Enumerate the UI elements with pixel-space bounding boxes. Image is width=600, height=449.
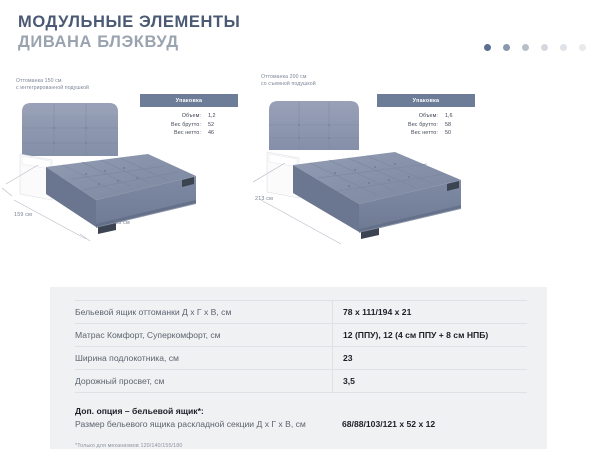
pagination-dot-4[interactable] (541, 44, 548, 51)
table-row-value: 12 (ППУ), 12 (4 см ППУ + 8 см НПБ) (332, 324, 527, 346)
specifications-table: Бельевой ящик оттоманки Д х Г х В, см78 … (75, 300, 527, 449)
packaging-row-value: 1,2 (201, 112, 230, 121)
packaging-row-value: 52 (201, 121, 230, 130)
packaging-row-value: 50 (438, 129, 467, 138)
page-title: МОДУЛЬНЫЕ ЭЛЕМЕНТЫ ДИВАНА БЛЭКВУД (18, 12, 240, 52)
packaging-row-label: Вес брутто: (408, 121, 438, 130)
optional-drawer-value: 68/88/103/121 x 52 x 12 (332, 405, 527, 431)
packaging-row: Объем:1,2 (144, 112, 230, 121)
pagination-dot-5[interactable] (560, 44, 567, 51)
table-row-value: 23 (332, 347, 527, 369)
product-ottoman-150: Оттоманка 150 см с интегрированной подуш… (0, 72, 250, 247)
packaging-row-label: Объем: (182, 112, 201, 121)
packaging-card-150-rows: Объем:1,2Вес брутто:52Вес нетто:46 (140, 107, 238, 144)
table-row-label: Дорожный просвет, см (75, 370, 332, 392)
packaging-row: Объем:1,6 (381, 112, 467, 121)
table-footnote: *Только для механизмов 120/140/155/180 (75, 443, 527, 449)
packaging-row: Вес нетто:46 (144, 129, 230, 138)
optional-drawer-label: Размер бельевого ящика раскладной секции… (75, 418, 326, 431)
dimension-width-150: 85 см (115, 220, 130, 226)
packaging-row: Вес брутто:52 (144, 121, 230, 130)
packaging-row: Вес брутто:58 (381, 121, 467, 130)
table-row-value: 3,5 (332, 370, 527, 392)
packaging-row-label: Вес брутто: (171, 121, 201, 130)
packaging-card-150: Упаковка Объем:1,2Вес брутто:52Вес нетто… (140, 94, 238, 144)
packaging-row-label: Объем: (419, 112, 438, 121)
pagination-dot-3[interactable] (522, 44, 529, 51)
page-title-line1: МОДУЛЬНЫЕ ЭЛЕМЕНТЫ (18, 12, 240, 32)
optional-drawer-block: Доп. опция – бельевой ящик*: Размер бель… (75, 405, 527, 431)
page-title-line2: ДИВАНА БЛЭКВУД (18, 32, 240, 52)
dimension-depth-200: 213 см (255, 196, 273, 202)
pagination-dot-1[interactable] (484, 44, 491, 51)
table-row-label: Матрас Комфорт, Суперкомфорт, см (75, 324, 332, 346)
table-row-label: Ширина подлокотника, см (75, 347, 332, 369)
table-row: Ширина подлокотника, см23 (75, 347, 527, 370)
table-row-value: 78 x 111/194 x 21 (332, 301, 527, 323)
dimension-depth-150: 159 см (14, 212, 32, 218)
specifications-panel: Бельевой ящик оттоманки Д х Г х В, см78 … (50, 287, 547, 449)
packaging-card-200: Упаковка Объем:1,6Вес брутто:58Вес нетто… (377, 94, 475, 144)
pagination-dots[interactable] (484, 44, 586, 51)
table-row: Матрас Комфорт, Суперкомфорт, см12 (ППУ)… (75, 324, 527, 347)
packaging-card-200-rows: Объем:1,6Вес брутто:58Вес нетто:50 (377, 107, 475, 144)
optional-drawer-text: Доп. опция – бельевой ящик*: Размер бель… (75, 405, 332, 431)
packaging-row-value: 58 (438, 121, 467, 130)
packaging-row-label: Вес нетто: (174, 129, 201, 138)
packaging-row-value: 46 (201, 129, 230, 138)
pagination-dot-2[interactable] (503, 44, 510, 51)
pagination-dot-6[interactable] (579, 44, 586, 51)
optional-drawer-title: Доп. опция – бельевой ящик*: (75, 405, 326, 418)
packaging-card-200-header: Упаковка (377, 94, 475, 107)
packaging-row: Вес нетто:50 (381, 129, 467, 138)
table-row-label: Бельевой ящик оттоманки Д х Г х В, см (75, 301, 332, 323)
packaging-row-value: 1,6 (438, 112, 467, 121)
table-row: Дорожный просвет, см3,5 (75, 370, 527, 393)
packaging-row-label: Вес нетто: (411, 129, 438, 138)
page-root: МОДУЛЬНЫЕ ЭЛЕМЕНТЫ ДИВАНА БЛЭКВУД Оттома… (0, 0, 600, 449)
packaging-card-150-header: Упаковка (140, 94, 238, 107)
product-ottoman-200: Оттоманка 200 см со съемной подушкой (245, 68, 510, 248)
dimension-width-200: 85 см (367, 220, 382, 226)
table-row: Бельевой ящик оттоманки Д х Г х В, см78 … (75, 300, 527, 324)
